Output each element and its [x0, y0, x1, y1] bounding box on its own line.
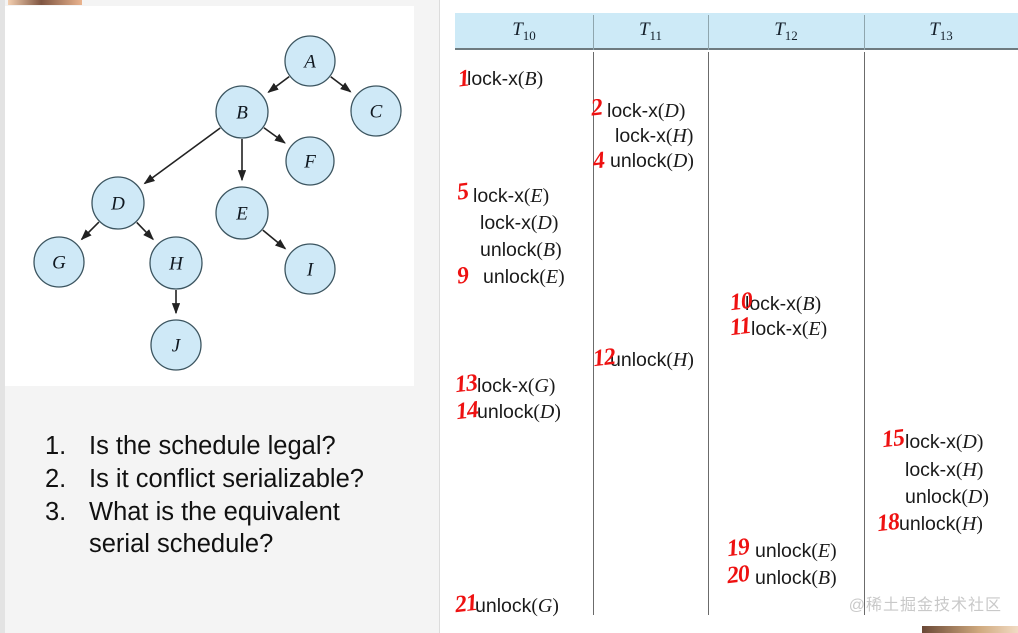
- column-header-label: T13: [929, 19, 953, 44]
- tree-node-C: C: [351, 86, 401, 136]
- operation-t10-14: unlock(D): [477, 401, 561, 424]
- operation-t12-20: unlock(B): [755, 567, 837, 590]
- tree-edge-E-I: [263, 230, 285, 248]
- tree-node-J: J: [151, 320, 201, 370]
- node-label-H: H: [168, 254, 184, 275]
- operation-t11-12: unlock(H): [610, 349, 694, 372]
- tree-node-F: F: [286, 137, 334, 185]
- order-mark-18: 18: [875, 509, 900, 538]
- node-label-B: B: [236, 103, 248, 124]
- operation-t12-10: lock-x(B): [745, 293, 821, 316]
- tree-edge-D-H: [137, 222, 153, 239]
- question-text: What is the equivalent serial schedule?: [89, 496, 414, 560]
- list-item: 1. Is the schedule legal?: [5, 430, 414, 462]
- order-mark-9: 9: [455, 262, 469, 290]
- order-mark-13: 13: [453, 370, 478, 399]
- tree-node-G: G: [34, 237, 84, 287]
- tree-node-D: D: [92, 177, 144, 229]
- node-label-F: F: [303, 152, 316, 173]
- tree-diagram-svg: ABCFDEGHIJ: [5, 6, 414, 386]
- tree-node-H: H: [150, 237, 202, 289]
- order-mark-21: 21: [453, 590, 478, 619]
- column-divider-3: [864, 52, 865, 615]
- question-number: 3.: [5, 496, 89, 528]
- tree-nodes: ABCFDEGHIJ: [34, 36, 401, 370]
- order-mark-4: 4: [591, 147, 605, 175]
- tree-node-B: B: [216, 86, 268, 138]
- schedule-header-row: T10 T11 T12 T13: [455, 13, 1018, 50]
- order-mark-5: 5: [455, 178, 469, 206]
- node-label-D: D: [110, 194, 125, 215]
- question-number: 2.: [5, 463, 89, 495]
- schedule-table: T10 T11 T12 T13 lock-x(B)lock-x(D)lock-x…: [455, 13, 1018, 623]
- header-divider-3: [864, 15, 865, 50]
- node-label-C: C: [370, 102, 383, 123]
- operation-t10-13: lock-x(G): [477, 375, 555, 398]
- tree-edge-A-B: [268, 77, 289, 93]
- order-mark-2: 2: [589, 94, 603, 122]
- order-mark-19: 19: [725, 534, 750, 563]
- tree-node-E: E: [216, 187, 268, 239]
- column-divider-1: [593, 52, 594, 615]
- operation-t10-21: unlock(G): [475, 595, 559, 618]
- column-header-label: T10: [512, 19, 536, 44]
- slide-root: ABCFDEGHIJ 1. Is the schedule legal? 2. …: [0, 0, 1018, 633]
- tree-edge-B-D: [145, 128, 221, 184]
- column-header-label: T11: [639, 19, 662, 44]
- question-text-line2: serial schedule?: [89, 528, 414, 560]
- operation-t11-3: lock-x(H): [615, 125, 693, 148]
- column-divider-2: [708, 52, 709, 615]
- operation-t10-7: unlock(B): [480, 239, 562, 262]
- column-header-label: T12: [774, 19, 798, 44]
- list-item: 3. What is the equivalent serial schedul…: [5, 496, 414, 560]
- operation-t11-2: lock-x(D): [607, 100, 685, 123]
- operation-t11-4: unlock(D): [610, 150, 694, 173]
- operation-t13-18: unlock(H): [899, 513, 983, 536]
- operation-t13-16: lock-x(H): [905, 459, 983, 482]
- watermark: @稀土掘金技术社区: [849, 591, 1002, 615]
- top-accent-strip: [8, 0, 82, 5]
- left-pane: ABCFDEGHIJ 1. Is the schedule legal? 2. …: [0, 0, 440, 633]
- operation-t13-17: unlock(D): [905, 486, 989, 509]
- list-item: 2. Is it conflict serializable?: [5, 463, 414, 495]
- column-header-t13: T13: [864, 13, 1018, 50]
- operation-t10-5: lock-x(E): [473, 185, 549, 208]
- operation-t13-15: lock-x(D): [905, 431, 983, 454]
- order-mark-14: 14: [454, 397, 479, 426]
- column-header-t10: T10: [455, 13, 593, 50]
- operation-t12-11: lock-x(E): [751, 318, 827, 341]
- question-list: 1. Is the schedule legal? 2. Is it confl…: [5, 430, 414, 562]
- node-label-A: A: [302, 52, 316, 73]
- question-text-line1: What is the equivalent: [89, 498, 340, 526]
- column-header-t11: T11: [593, 13, 708, 50]
- column-header-t12: T12: [708, 13, 864, 50]
- tree-node-A: A: [285, 36, 335, 86]
- bottom-accent-strip: [922, 626, 1018, 633]
- operation-t10-6: lock-x(D): [480, 212, 558, 235]
- node-label-E: E: [235, 204, 248, 225]
- order-mark-11: 11: [728, 313, 752, 342]
- tree-node-I: I: [285, 244, 335, 294]
- order-mark-15: 15: [880, 425, 905, 454]
- header-divider-1: [593, 15, 594, 50]
- operation-t10-1: lock-x(B): [467, 68, 543, 91]
- header-divider-2: [708, 15, 709, 50]
- question-text: Is it conflict serializable?: [89, 463, 414, 495]
- order-mark-12: 12: [591, 344, 616, 373]
- tree-diagram-panel: ABCFDEGHIJ: [5, 6, 414, 386]
- operation-t10-8: unlock(E): [483, 266, 565, 289]
- schedule-pane: T10 T11 T12 T13 lock-x(B)lock-x(D)lock-x…: [440, 0, 1018, 633]
- tree-edge-B-F: [264, 128, 285, 143]
- question-number: 1.: [5, 430, 89, 462]
- tree-edge-A-C: [331, 77, 351, 92]
- operation-t12-19: unlock(E): [755, 540, 837, 563]
- node-label-G: G: [52, 253, 66, 274]
- question-text: Is the schedule legal?: [89, 430, 414, 462]
- order-mark-20: 20: [725, 561, 750, 590]
- tree-edge-D-G: [82, 222, 99, 239]
